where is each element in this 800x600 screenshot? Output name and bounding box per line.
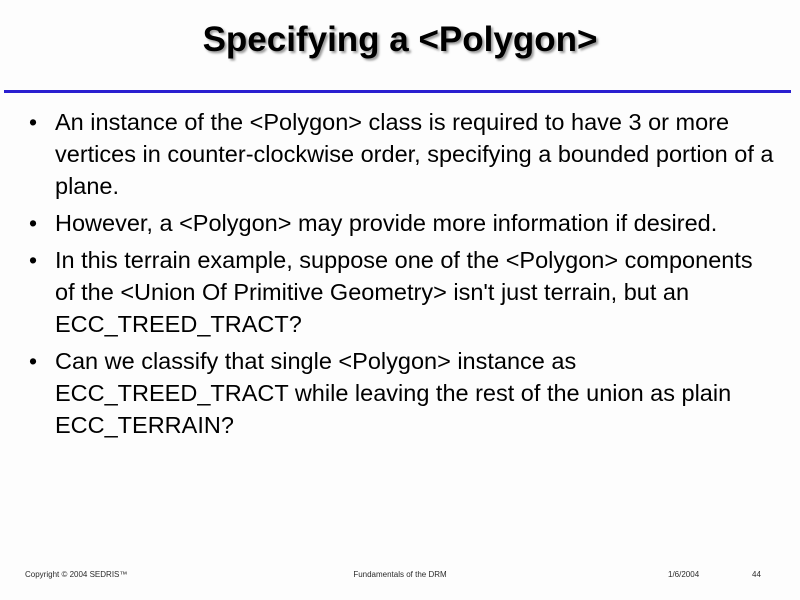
bullet-icon: • [29, 106, 43, 138]
bullet-text: An instance of the <Polygon> class is re… [55, 106, 778, 202]
slide-title-block: Specifying a <Polygon> [0, 18, 800, 62]
slide-footer: Copyright © 2004 SEDRIS™ Fundamentals of… [0, 570, 800, 586]
bullet-icon: • [29, 207, 43, 239]
bullet-icon: • [29, 244, 43, 276]
footer-date: 1/6/2004 [668, 570, 699, 579]
title-divider-rule [4, 90, 791, 93]
bullet-icon: • [29, 345, 43, 377]
list-item: • An instance of the <Polygon> class is … [0, 106, 800, 202]
bullet-text: However, a <Polygon> may provide more in… [55, 207, 778, 239]
bullet-text: Can we classify that single <Polygon> in… [55, 345, 778, 441]
slide-canvas: Specifying a <Polygon> • An instance of … [0, 0, 800, 600]
slide-body: • An instance of the <Polygon> class is … [0, 106, 800, 446]
page-title: Specifying a <Polygon> [203, 18, 598, 62]
bullet-text: In this terrain example, suppose one of … [55, 244, 778, 340]
footer-page-number: 44 [752, 570, 761, 579]
list-item: • Can we classify that single <Polygon> … [0, 345, 800, 441]
list-item: • However, a <Polygon> may provide more … [0, 207, 800, 239]
list-item: • In this terrain example, suppose one o… [0, 244, 800, 340]
